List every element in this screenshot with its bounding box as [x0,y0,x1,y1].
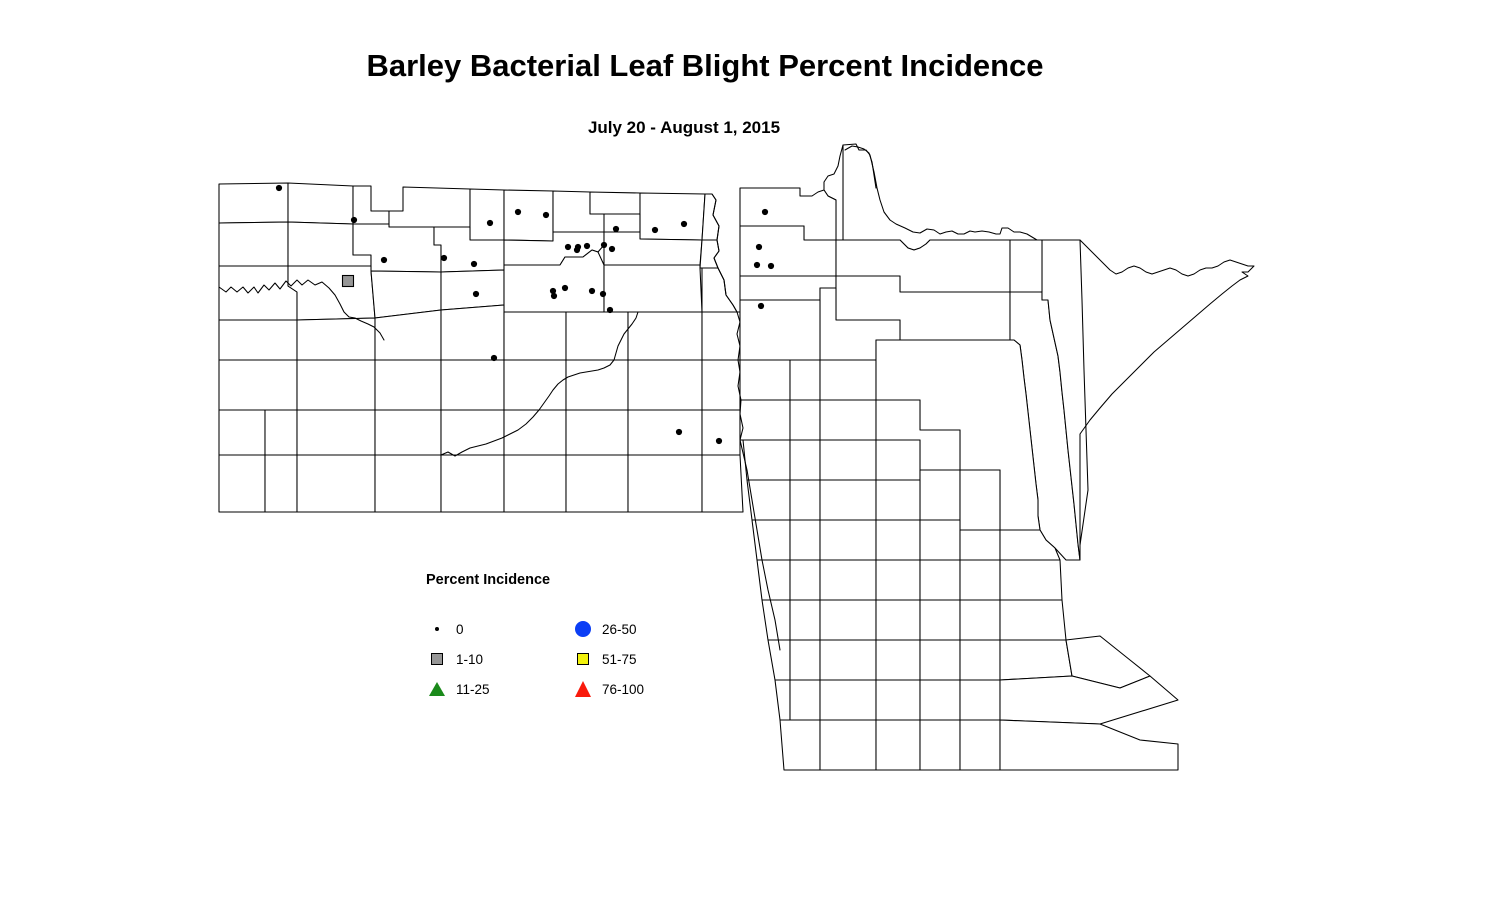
legend-symbol-blue-circle-icon [572,618,594,640]
map-data-point[interactable] [589,288,595,294]
map-data-point[interactable] [565,244,571,250]
map-data-point[interactable] [276,185,282,191]
map-data-point[interactable] [343,276,354,287]
map-data-point[interactable] [758,303,764,309]
map-figure: Barley Bacterial Leaf Blight Percent Inc… [0,0,1503,900]
legend-item-1-10[interactable]: 1-10 [426,644,490,674]
map-data-point[interactable] [601,242,607,248]
map-data-point[interactable] [584,243,590,249]
map-data-point[interactable] [609,246,615,252]
legend-label-0: 0 [456,622,464,637]
legend-title: Percent Incidence [426,572,550,588]
map-data-point[interactable] [543,212,549,218]
legend-label-76-100: 76-100 [602,682,644,697]
map-data-point[interactable] [613,226,619,232]
map-data-point[interactable] [515,209,521,215]
map-data-point[interactable] [574,247,580,253]
legend-item-76-100[interactable]: 76-100 [572,674,644,704]
map-data-point[interactable] [381,257,387,263]
map-data-point[interactable] [716,438,722,444]
legend-item-0[interactable]: 0 [426,614,490,644]
legend-label-11-25: 11-25 [456,682,490,697]
map-data-point[interactable] [681,221,687,227]
legend-symbol-green-triangle-icon [426,678,448,700]
legend-symbol-yellow-square-icon [572,648,594,670]
map-data-point[interactable] [676,429,682,435]
minnesota-counties [712,144,1254,770]
map-data-point[interactable] [351,217,357,223]
map-data-point[interactable] [762,209,768,215]
legend: Percent Incidence 0 1-10 11-25 26-50 [426,572,686,702]
north-dakota-counties [219,183,743,512]
legend-symbol-gray-square-icon [426,648,448,670]
map-data-point[interactable] [600,291,606,297]
legend-symbol-dot-icon [426,618,448,640]
legend-item-26-50[interactable]: 26-50 [572,614,644,644]
map-canvas [0,0,1503,900]
map-data-point[interactable] [491,355,497,361]
map-data-point[interactable] [754,262,760,268]
map-data-point[interactable] [441,255,447,261]
map-data-point[interactable] [756,244,762,250]
map-data-point[interactable] [487,220,493,226]
map-data-point[interactable] [607,307,613,313]
legend-symbol-red-triangle-icon [572,678,594,700]
map-data-point[interactable] [551,293,557,299]
map-svg [0,0,1503,900]
legend-label-51-75: 51-75 [602,652,637,667]
legend-item-51-75[interactable]: 51-75 [572,644,644,674]
legend-label-1-10: 1-10 [456,652,483,667]
legend-item-11-25[interactable]: 11-25 [426,674,490,704]
legend-column-left: 0 1-10 11-25 [426,614,490,704]
map-data-point[interactable] [471,261,477,267]
legend-column-right: 26-50 51-75 76-100 [572,614,644,704]
legend-label-26-50: 26-50 [602,622,637,637]
map-data-point[interactable] [768,263,774,269]
map-data-point[interactable] [652,227,658,233]
map-data-point[interactable] [473,291,479,297]
map-data-point[interactable] [562,285,568,291]
